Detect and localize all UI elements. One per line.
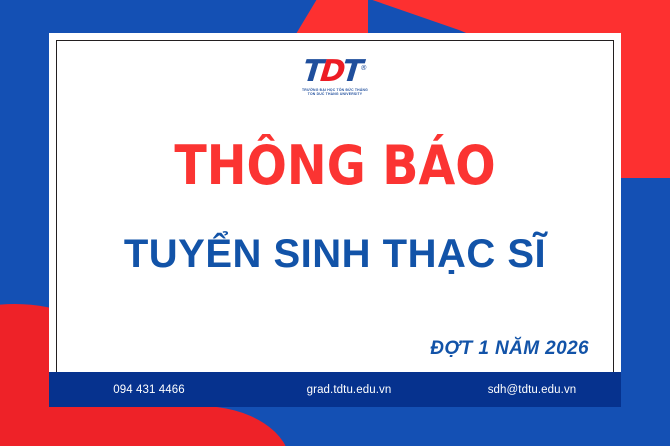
logo-subtitle: TRƯỜNG ĐẠI HỌC TÔN ĐỨC THẮNG TON DUC THA… xyxy=(302,88,368,97)
poster-canvas: TDT® TRƯỜNG ĐẠI HỌC TÔN ĐỨC THẮNG TON DU… xyxy=(0,0,670,446)
headline-thong-bao: THÔNG BÁO xyxy=(83,139,586,193)
poster-card: TDT® TRƯỜNG ĐẠI HỌC TÔN ĐỨC THẮNG TON DU… xyxy=(49,33,621,372)
footer-email[interactable]: sdh@tdtu.edu.vn xyxy=(449,384,621,396)
footer-website[interactable]: grad.tdtu.edu.vn xyxy=(249,384,449,396)
footer-phone[interactable]: 094 431 4466 xyxy=(49,384,249,396)
logo-subtitle-en: TON DUC THANG UNIVERSITY xyxy=(302,92,368,96)
university-logo: TDT® TRƯỜNG ĐẠI HỌC TÔN ĐỨC THẮNG TON DU… xyxy=(49,57,621,97)
registered-trademark-icon: ® xyxy=(360,64,368,72)
logo-wordmark: TDT® xyxy=(302,57,369,87)
headline-tuyen-sinh-thac-si: TUYỂN SINH THẠC SĨ xyxy=(49,231,621,277)
headline-session: ĐỢT 1 NĂM 2026 xyxy=(430,338,589,360)
logo-letter-t-second: T xyxy=(341,54,362,89)
footer-contact-bar: 094 431 4466 grad.tdtu.edu.vn sdh@tdtu.e… xyxy=(49,372,621,407)
